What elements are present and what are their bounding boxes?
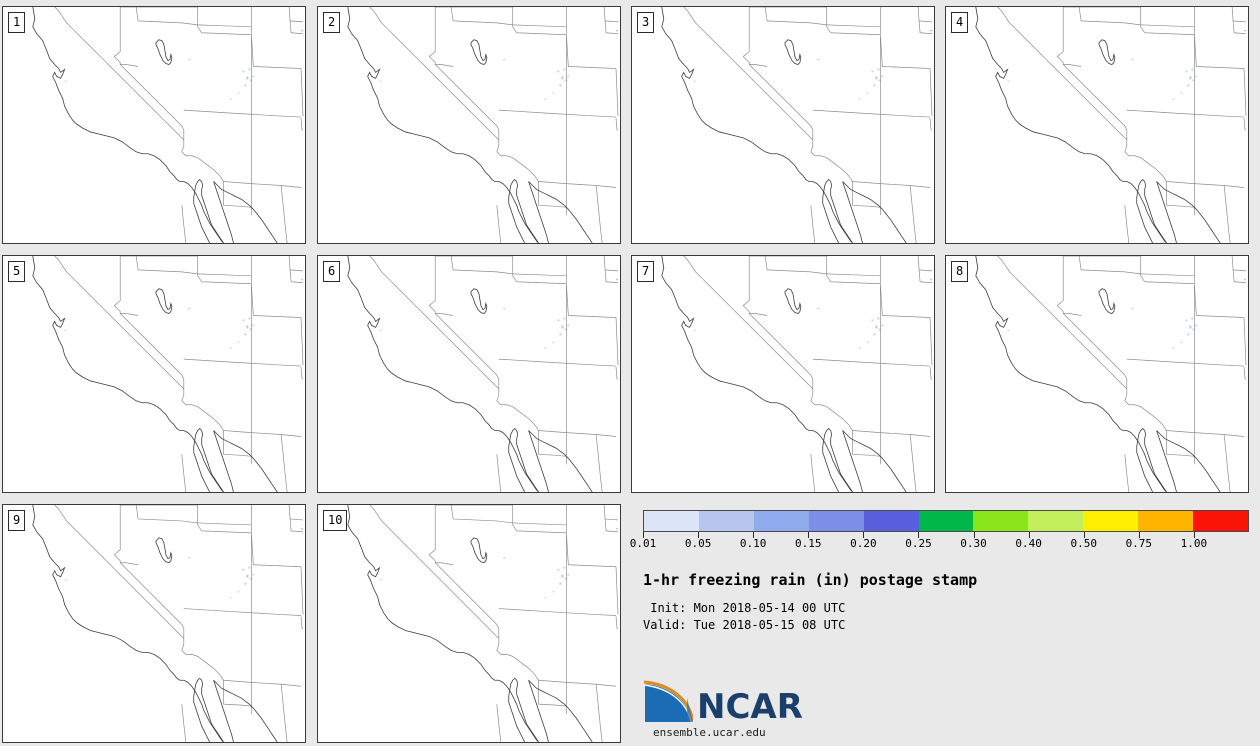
colorbar-swatch-3 <box>809 511 864 531</box>
state-border <box>1063 314 1127 379</box>
postage-stamp-figure: 0.010.050.100.150.200.250.300.400.500.75… <box>0 0 1260 746</box>
state-border <box>930 118 932 130</box>
legend-area: 0.010.050.100.150.200.250.300.400.500.75… <box>631 504 1249 743</box>
precip-cell <box>694 329 696 331</box>
precip-cell <box>1195 324 1197 326</box>
member-label: 6 <box>323 261 340 282</box>
state-border <box>429 505 435 563</box>
precip-cell <box>252 75 254 77</box>
member-panel-2[interactable]: 2 <box>317 6 621 244</box>
state-border <box>497 704 501 742</box>
precip-cell <box>248 68 250 70</box>
great-salt-lake <box>156 289 172 314</box>
precip-cell <box>1192 79 1195 81</box>
coastline <box>509 678 539 742</box>
colorbar-swatch-9 <box>1138 511 1193 531</box>
state-border <box>1141 7 1195 35</box>
state-border <box>1079 7 1141 25</box>
state-border <box>301 68 303 116</box>
precip-cell <box>552 341 554 343</box>
state-border <box>566 35 616 69</box>
colorbar-swatch-4 <box>864 511 919 531</box>
member-label: 10 <box>323 510 347 531</box>
state-border <box>513 523 567 525</box>
precip-cell <box>567 324 569 326</box>
state-border <box>616 367 618 379</box>
coastline <box>214 680 278 742</box>
state-border <box>198 274 252 276</box>
state-border <box>827 256 881 284</box>
precip-cell <box>875 325 877 328</box>
state-border <box>281 684 287 742</box>
precip-cell <box>881 75 883 77</box>
precip-cell <box>65 579 67 581</box>
precip-cell <box>567 574 569 576</box>
state-border <box>120 65 184 130</box>
precip-cell <box>248 567 250 569</box>
state-border <box>604 505 618 520</box>
colorbar-swatch-8 <box>1083 511 1138 531</box>
state-border <box>605 270 618 283</box>
member-panel-4[interactable]: 4 <box>945 6 1249 244</box>
state-border <box>120 563 184 629</box>
state-border <box>435 65 453 67</box>
precip-cell <box>249 328 252 330</box>
state-border <box>435 314 453 316</box>
state-border <box>251 533 301 567</box>
precip-cell <box>866 92 868 94</box>
state-border <box>182 205 186 243</box>
precip-cell <box>503 557 506 559</box>
state-border <box>539 680 616 686</box>
precip-cell <box>567 75 569 77</box>
state-border <box>1079 256 1141 274</box>
state-border <box>853 182 930 188</box>
colorbar-swatch-5 <box>919 511 974 531</box>
state-border <box>281 185 287 243</box>
coastline <box>1137 180 1167 243</box>
state-border <box>370 7 499 140</box>
precip-cell <box>246 325 248 328</box>
state-border <box>224 431 301 437</box>
state-border <box>184 359 301 366</box>
state-border <box>684 256 813 389</box>
member-panel-7[interactable]: 7 <box>631 255 935 493</box>
precip-cell <box>545 597 547 599</box>
state-border <box>813 359 930 366</box>
colorbar-label-4: 0.20 <box>850 538 877 550</box>
state-border <box>605 21 618 34</box>
coastline <box>214 182 278 243</box>
precip-cell <box>1187 333 1189 335</box>
state-border <box>811 130 853 182</box>
state-border <box>930 68 932 116</box>
state-border <box>497 628 539 680</box>
state-border <box>120 563 138 565</box>
state-border <box>429 7 435 65</box>
coastline <box>529 182 593 243</box>
precip-cell <box>244 583 246 585</box>
state-border <box>198 7 252 35</box>
ncar-mark <box>644 682 693 722</box>
colorbar-swatch-6 <box>973 511 1028 531</box>
state-border <box>182 130 224 182</box>
state-border <box>1125 130 1167 182</box>
precip-cell <box>1185 319 1187 321</box>
precip-cell <box>65 329 67 331</box>
state-border <box>604 256 618 271</box>
state-border <box>281 434 287 492</box>
state-border <box>184 609 301 616</box>
figure-title: 1-hr freezing rain (in) postage stamp <box>643 571 977 589</box>
precip-cell <box>242 569 244 571</box>
state-border <box>114 7 120 65</box>
member-panel-6[interactable]: 6 <box>317 255 621 493</box>
precip-cell <box>871 70 873 72</box>
colorbar-swatch-2 <box>754 511 809 531</box>
precip-cell <box>188 308 191 310</box>
state-border <box>853 431 930 437</box>
state-border <box>1141 256 1195 284</box>
great-salt-lake <box>156 40 172 65</box>
state-border <box>289 7 303 22</box>
state-border <box>513 7 567 35</box>
state-border <box>1233 21 1246 34</box>
state-border <box>184 110 301 117</box>
state-border <box>513 25 567 27</box>
coastline <box>214 431 278 492</box>
colorbar-swatch-0 <box>644 511 699 531</box>
state-border <box>198 505 252 533</box>
precip-cell <box>871 319 873 321</box>
map-graphic <box>3 256 305 492</box>
state-border <box>497 379 539 431</box>
state-border <box>910 185 916 243</box>
ncar-logo-svg: NCAR <box>643 680 803 728</box>
precip-cell <box>230 597 232 599</box>
colorbar <box>643 510 1249 532</box>
precip-cell <box>237 591 239 593</box>
state-border <box>1244 367 1246 379</box>
coastline <box>823 429 853 492</box>
state-border <box>998 7 1127 140</box>
state-border <box>1244 118 1246 130</box>
coastline <box>1137 429 1167 492</box>
member-label: 7 <box>637 261 654 282</box>
colorbar-label-2: 0.10 <box>740 538 767 550</box>
state-border <box>684 7 813 140</box>
colorbar-label-8: 0.50 <box>1070 538 1097 550</box>
state-border <box>114 256 120 314</box>
state-border <box>566 284 616 318</box>
state-border <box>182 454 186 492</box>
member-panel-3[interactable]: 3 <box>631 6 935 244</box>
precip-cell <box>564 578 567 580</box>
great-salt-lake <box>1099 289 1115 314</box>
member-label: 3 <box>637 12 654 33</box>
state-border <box>1057 7 1063 65</box>
state-border <box>513 256 567 284</box>
state-border <box>301 617 303 629</box>
state-border <box>1125 379 1167 431</box>
precip-cell <box>1195 75 1197 77</box>
precip-cell <box>1180 92 1182 94</box>
state-border <box>910 434 916 492</box>
precip-cell <box>246 575 248 578</box>
state-border <box>765 256 827 274</box>
map-graphic <box>632 256 934 492</box>
state-border <box>827 25 881 27</box>
state-border <box>880 284 930 318</box>
state-border <box>827 7 881 35</box>
state-border <box>918 256 932 271</box>
state-border <box>182 379 224 431</box>
precip-cell <box>1192 328 1195 330</box>
precip-cell <box>561 325 563 328</box>
precip-cell <box>557 70 559 72</box>
state-border <box>198 523 252 525</box>
coastline <box>1157 431 1221 492</box>
state-border <box>930 317 932 365</box>
state-border <box>566 533 616 567</box>
state-border <box>120 314 138 316</box>
state-border <box>370 256 499 389</box>
precip-cell <box>552 92 554 94</box>
precip-cell <box>561 76 563 79</box>
state-border <box>539 182 616 188</box>
precip-cell <box>563 317 565 319</box>
state-border <box>1125 454 1129 492</box>
state-border <box>55 7 184 140</box>
state-border <box>1232 256 1246 271</box>
state-border <box>513 274 567 276</box>
state-border <box>224 182 301 188</box>
precip-cell <box>859 98 861 100</box>
member-panel-5[interactable]: 5 <box>2 255 306 493</box>
state-border <box>811 205 815 243</box>
precip-cell <box>1189 76 1191 79</box>
state-border <box>435 563 499 629</box>
state-border <box>1224 185 1230 243</box>
precip-cell <box>875 76 877 79</box>
precip-cell <box>559 333 561 335</box>
precip-cell <box>563 68 565 70</box>
coastline <box>843 431 907 492</box>
state-border <box>1194 284 1244 318</box>
member-label: 5 <box>8 261 25 282</box>
great-salt-lake <box>156 538 172 563</box>
state-border <box>198 256 252 284</box>
map-graphic <box>318 505 620 742</box>
state-border <box>1057 256 1063 314</box>
state-border <box>1233 270 1246 283</box>
precip-cell <box>249 578 252 580</box>
state-border <box>301 367 303 379</box>
state-border <box>596 684 602 742</box>
member-panel-8[interactable]: 8 <box>945 255 1249 493</box>
precip-cell <box>237 92 239 94</box>
state-border <box>497 205 501 243</box>
precip-cell <box>545 347 547 349</box>
state-border <box>749 314 767 316</box>
precip-cell <box>237 341 239 343</box>
state-border <box>182 704 186 742</box>
precip-cell <box>244 84 246 86</box>
precip-cell <box>249 79 252 81</box>
state-border <box>301 118 303 130</box>
precip-cell <box>817 308 820 310</box>
precip-cell <box>380 579 382 581</box>
precip-cell <box>564 328 567 330</box>
state-border <box>1063 65 1127 130</box>
state-border <box>930 367 932 379</box>
precip-cell <box>230 347 232 349</box>
state-border <box>435 314 499 379</box>
state-border <box>919 21 932 34</box>
state-border <box>1244 68 1246 116</box>
coastline <box>823 180 853 243</box>
state-border <box>1063 314 1081 316</box>
colorbar-label-3: 0.15 <box>795 538 822 550</box>
map-graphic <box>3 505 305 742</box>
precip-cell <box>817 59 820 61</box>
precip-cell <box>873 84 875 86</box>
precip-cell <box>242 319 244 321</box>
state-border <box>605 519 618 532</box>
precip-cell <box>503 59 506 61</box>
init-time-line: Init: Mon 2018-05-14 00 UTC <box>643 600 845 617</box>
precip-cell <box>877 68 879 70</box>
precip-cell <box>65 80 67 82</box>
state-border <box>55 256 184 389</box>
precip-cell <box>503 308 506 310</box>
member-label: 9 <box>8 510 25 531</box>
map-graphic <box>946 7 1248 243</box>
state-border <box>1127 359 1244 366</box>
precip-cell <box>380 80 382 82</box>
state-border <box>497 130 539 182</box>
precip-cell <box>248 317 250 319</box>
colorbar-label-0: 0.01 <box>630 538 657 550</box>
state-border <box>1127 110 1244 117</box>
member-label: 4 <box>951 12 968 33</box>
state-border <box>616 317 618 365</box>
precip-cell <box>1131 59 1134 61</box>
state-border <box>120 65 138 67</box>
state-border <box>1167 431 1244 437</box>
state-border <box>616 617 618 629</box>
state-border <box>499 609 616 616</box>
state-border <box>596 434 602 492</box>
member-panel-9[interactable]: 9 <box>2 504 306 743</box>
great-salt-lake <box>471 40 487 65</box>
state-border <box>1141 274 1195 276</box>
precip-cell <box>557 569 559 571</box>
coastline <box>843 182 907 243</box>
colorbar-label-7: 0.40 <box>1015 538 1042 550</box>
member-label: 1 <box>8 12 25 33</box>
state-border <box>182 628 224 680</box>
map-graphic <box>3 7 305 243</box>
precip-cell <box>1008 80 1010 82</box>
state-border <box>451 505 513 523</box>
state-border <box>813 110 930 117</box>
member-panel-10[interactable]: 10 <box>317 504 621 743</box>
state-border <box>811 379 853 431</box>
great-salt-lake <box>471 538 487 563</box>
precip-cell <box>1191 68 1193 70</box>
ncar-logo: NCAR ensemble.ucar.edu <box>643 680 803 728</box>
state-border <box>998 256 1127 389</box>
state-border <box>749 314 813 379</box>
precip-cell <box>1191 317 1193 319</box>
state-border <box>429 256 435 314</box>
coastline <box>194 678 224 742</box>
map-graphic <box>318 7 620 243</box>
great-salt-lake <box>785 289 801 314</box>
precip-cell <box>557 319 559 321</box>
colorbar-label-1: 0.05 <box>685 538 712 550</box>
precip-cell <box>545 98 547 100</box>
state-border <box>765 7 827 25</box>
state-border <box>919 270 932 283</box>
colorbar-tick-labels: 0.010.050.100.150.200.250.300.400.500.75… <box>643 538 1249 552</box>
colorbar-label-6: 0.30 <box>960 538 987 550</box>
state-border <box>1063 65 1081 67</box>
precip-cell <box>244 333 246 335</box>
state-border <box>290 270 303 283</box>
state-border <box>513 505 567 533</box>
state-border <box>880 35 930 69</box>
precip-cell <box>859 347 861 349</box>
precip-cell <box>1185 70 1187 72</box>
state-border <box>743 256 749 314</box>
map-graphic <box>632 7 934 243</box>
precip-cell <box>878 79 881 81</box>
state-border <box>539 431 616 437</box>
valid-time-line: Valid: Tue 2018-05-15 08 UTC <box>643 617 845 634</box>
colorbar-label-5: 0.25 <box>905 538 932 550</box>
state-border <box>435 65 499 130</box>
precip-cell <box>564 79 567 81</box>
state-border <box>224 680 301 686</box>
member-label: 8 <box>951 261 968 282</box>
precip-cell <box>246 76 248 79</box>
precip-cell <box>1180 341 1182 343</box>
precip-cell <box>188 59 191 61</box>
precip-cell <box>1187 84 1189 86</box>
state-border <box>136 505 198 523</box>
member-panel-1[interactable]: 1 <box>2 6 306 244</box>
state-border <box>616 68 618 116</box>
coastline <box>194 180 224 243</box>
colorbar-swatch-7 <box>1028 511 1083 531</box>
precip-cell <box>242 70 244 72</box>
map-graphic <box>946 256 1248 492</box>
coastline <box>509 429 539 492</box>
state-border <box>1232 7 1246 22</box>
precip-cell <box>1131 308 1134 310</box>
state-border <box>289 256 303 271</box>
state-border <box>1194 35 1244 69</box>
precip-cell <box>694 80 696 82</box>
precip-cell <box>552 591 554 593</box>
state-border <box>55 505 184 638</box>
state-border <box>497 454 501 492</box>
state-border <box>136 7 198 25</box>
coastline <box>529 680 593 742</box>
great-salt-lake <box>471 289 487 314</box>
